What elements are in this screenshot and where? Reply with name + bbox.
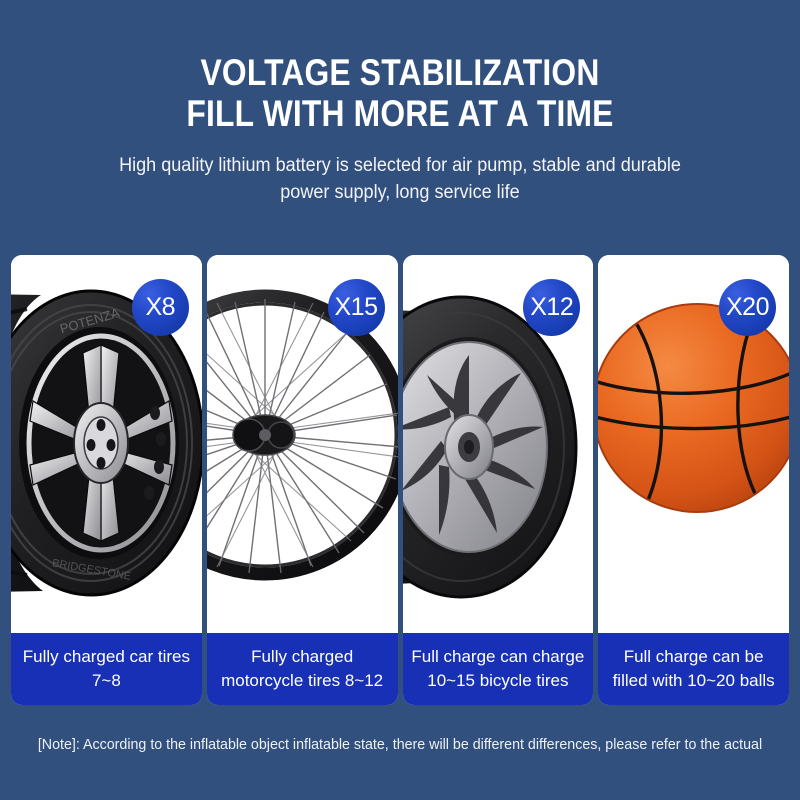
capacity-badge: X12: [523, 279, 580, 336]
capacity-badge: X15: [328, 279, 385, 336]
page-title-line-1: VOLTAGE STABILIZATION: [56, 52, 744, 93]
list-item[interactable]: POTENZA BRIDGESTONE: [11, 255, 202, 705]
subtitle-line-2: power supply, long service life: [20, 179, 780, 206]
list-item[interactable]: X15 Fully charged motorcycle tires 8~12: [207, 255, 398, 705]
subtitle-line-1: High quality lithium battery is selected…: [20, 152, 780, 179]
card-media: X12: [403, 255, 594, 633]
list-item[interactable]: X20 Full charge can be filled with 10~20…: [598, 255, 789, 705]
capacity-card-list: POTENZA BRIDGESTONE: [11, 255, 789, 705]
card-media: X15: [207, 255, 398, 633]
card-caption: Fully charged car tires 7~8: [11, 633, 202, 705]
card-media: X20: [598, 255, 789, 633]
page-title-line-2: FILL WITH MORE AT A TIME: [56, 93, 744, 134]
card-caption: Full charge can charge 10~15 bicycle tir…: [403, 633, 594, 705]
card-caption: Fully charged motorcycle tires 8~12: [207, 633, 398, 705]
list-item[interactable]: X12 Full charge can charge 10~15 bicycle…: [403, 255, 594, 705]
header: VOLTAGE STABILIZATION FILL WITH MORE AT …: [0, 0, 800, 206]
card-caption: Full charge can be filled with 10~20 bal…: [598, 633, 789, 705]
capacity-badge: X8: [132, 279, 189, 336]
footer-note: [Note]: According to the inflatable obje…: [20, 735, 780, 755]
capacity-badge: X20: [719, 279, 776, 336]
card-media: POTENZA BRIDGESTONE: [11, 255, 202, 633]
basketball-image: [598, 303, 789, 513]
